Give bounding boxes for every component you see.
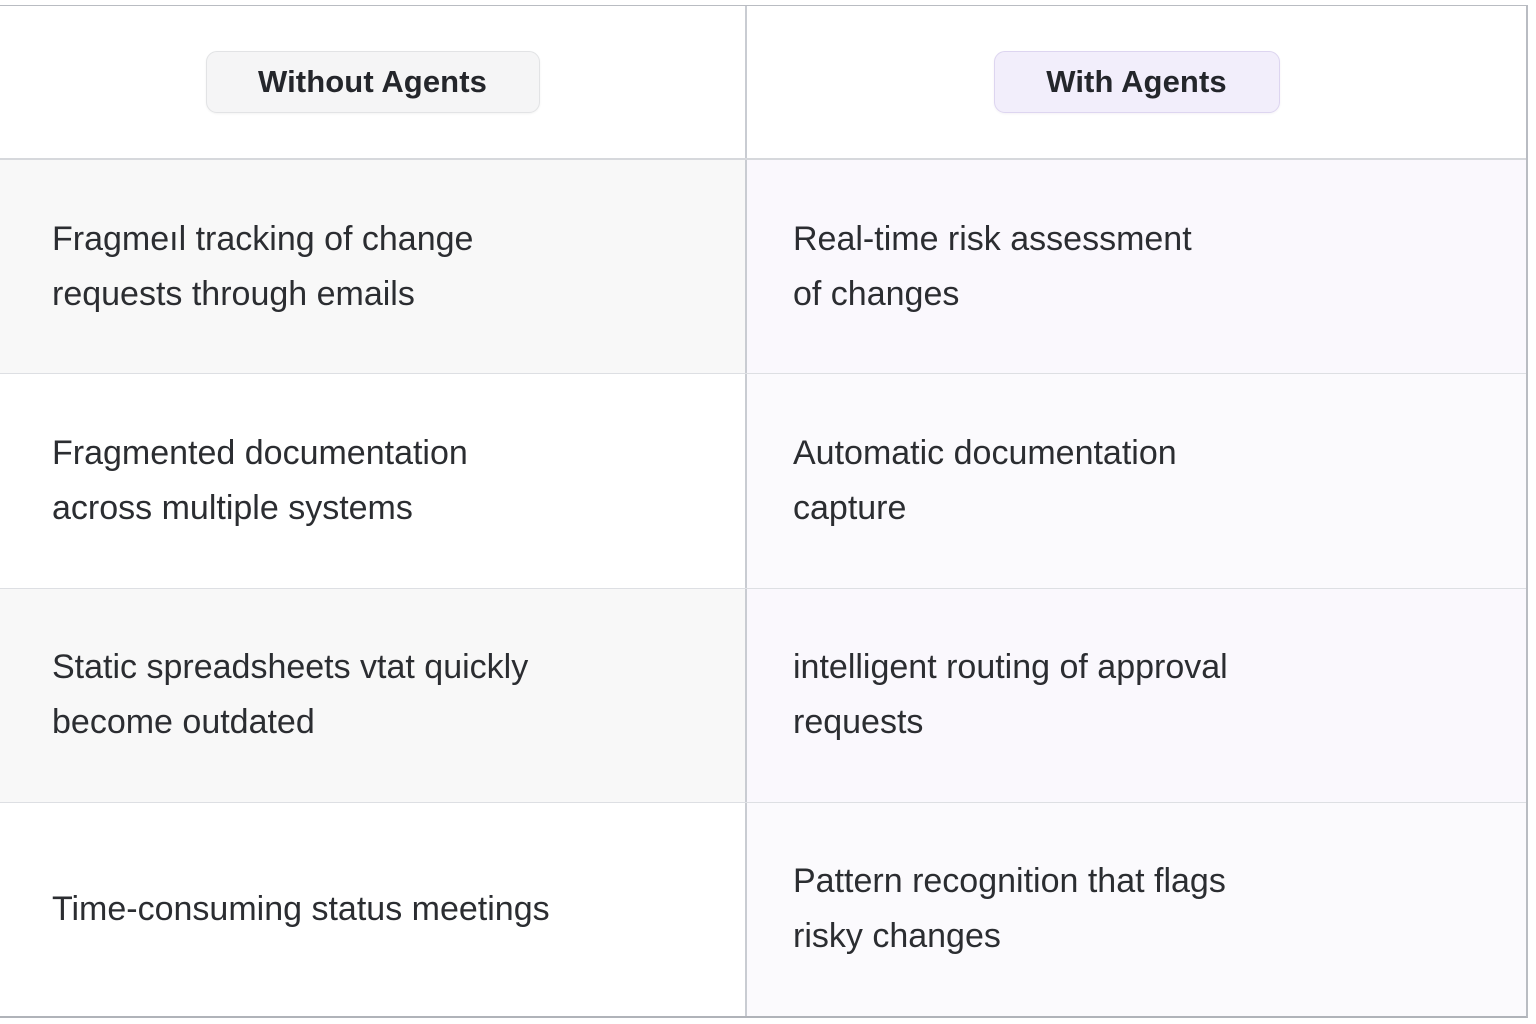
cell-without-agents: Fragmented documentation across multiple…	[0, 374, 747, 587]
cell-text: Fragmeıl tracking of change requests thr…	[52, 212, 473, 322]
table-row: Static spreadsheets vtat quickly become …	[0, 589, 1526, 803]
column-header-without-agents: Without Agents	[0, 6, 747, 158]
cell-text: Automatic documentation capture	[793, 426, 1177, 536]
cell-text: Time-consuming status meetings	[52, 882, 550, 937]
cell-without-agents: Time-consuming status meetings	[0, 803, 747, 1016]
cell-with-agents: intelligent routing of approval requests	[747, 589, 1526, 802]
cell-text: Real-time risk assessment of changes	[793, 212, 1192, 322]
cell-text: intelligent routing of approval requests	[793, 640, 1228, 750]
with-agents-badge: With Agents	[994, 51, 1280, 113]
cell-text: Static spreadsheets vtat quickly become …	[52, 640, 528, 750]
table-row: Fragmented documentation across multiple…	[0, 374, 1526, 588]
table-row: Fragmeıl tracking of change requests thr…	[0, 160, 1526, 374]
cell-with-agents: Pattern recognition that flags risky cha…	[747, 803, 1526, 1016]
without-agents-badge: Without Agents	[206, 51, 540, 113]
cell-with-agents: Real-time risk assessment of changes	[747, 160, 1526, 373]
cell-without-agents: Fragmeıl tracking of change requests thr…	[0, 160, 747, 373]
table-header-row: Without Agents With Agents	[0, 6, 1526, 160]
table-row: Time-consuming status meetings Pattern r…	[0, 803, 1526, 1016]
comparison-table: Without Agents With Agents Fragmeıl trac…	[0, 5, 1528, 1018]
cell-text: Pattern recognition that flags risky cha…	[793, 854, 1226, 964]
cell-without-agents: Static spreadsheets vtat quickly become …	[0, 589, 747, 802]
table-body: Fragmeıl tracking of change requests thr…	[0, 160, 1526, 1016]
column-header-with-agents: With Agents	[747, 6, 1526, 158]
cell-with-agents: Automatic documentation capture	[747, 374, 1526, 587]
cell-text: Fragmented documentation across multiple…	[52, 426, 468, 536]
